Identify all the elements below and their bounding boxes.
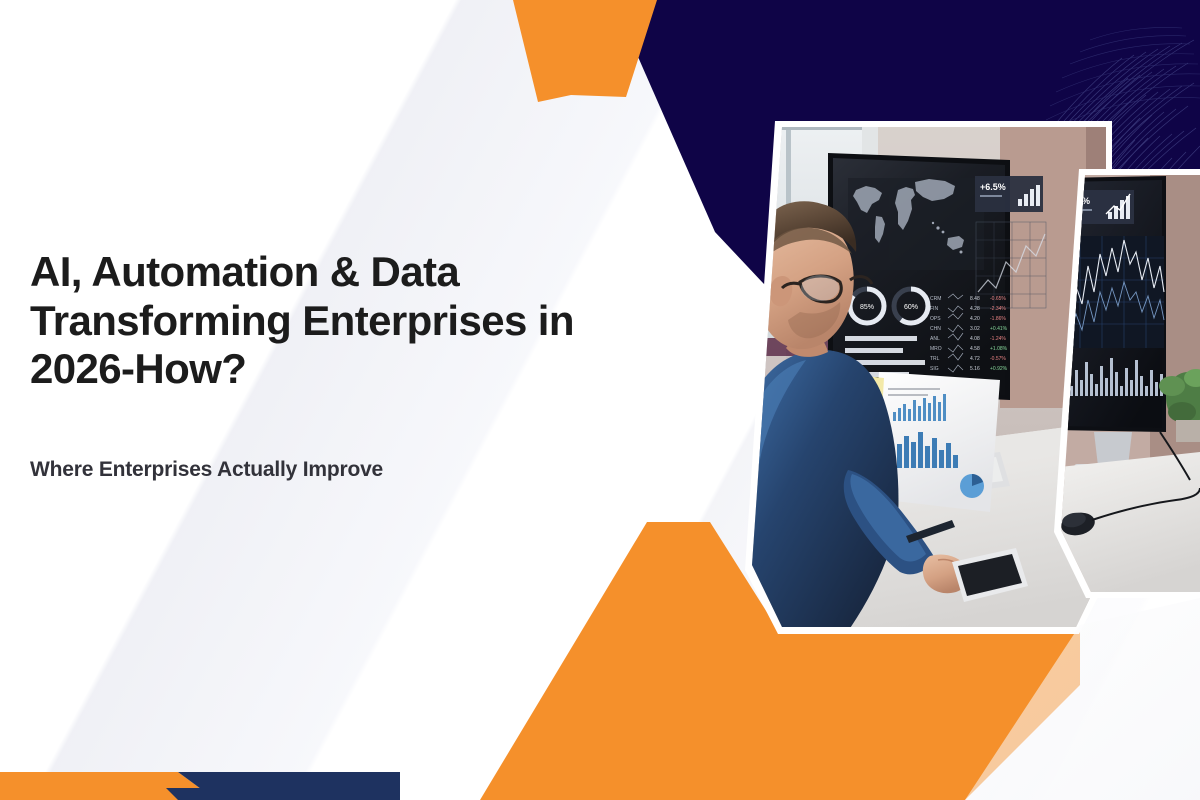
svg-text:OPS: OPS — [930, 316, 941, 322]
svg-text:4.20: 4.20 — [970, 316, 980, 322]
svg-text:4.28: 4.28 — [970, 306, 980, 312]
svg-text:CRM: CRM — [930, 296, 941, 302]
svg-text:+0.92%: +0.92% — [990, 366, 1008, 372]
kpi-value-primary: +6.5% — [980, 182, 1006, 192]
svg-text:-0.57%: -0.57% — [990, 356, 1006, 362]
svg-text:CHN: CHN — [930, 326, 941, 332]
svg-text:FIN: FIN — [930, 306, 938, 312]
svg-text:5.16: 5.16 — [970, 366, 980, 372]
svg-text:+0.41%: +0.41% — [990, 326, 1008, 332]
svg-text:3.02: 3.02 — [970, 326, 980, 332]
svg-text:4.58: 4.58 — [970, 346, 980, 352]
banner-copy: AI, Automation & Data Transforming Enter… — [30, 248, 670, 482]
svg-text:+1.08%: +1.08% — [990, 346, 1008, 352]
svg-text:-2.34%: -2.34% — [990, 306, 1006, 312]
svg-text:SIG: SIG — [930, 366, 939, 372]
svg-text:-1.24%: -1.24% — [990, 336, 1006, 342]
donut-left-value: 85% — [860, 304, 874, 311]
page-title: AI, Automation & Data Transforming Enter… — [30, 248, 670, 394]
kpi-chip-primary: +6.5% — [975, 176, 1043, 212]
svg-text:4.08: 4.08 — [970, 336, 980, 342]
svg-text:8.48: 8.48 — [970, 296, 980, 302]
svg-text:-1.86%: -1.86% — [990, 316, 1006, 322]
page-subtitle: Where Enterprises Actually Improve — [30, 458, 670, 482]
bottom-bars — [0, 772, 400, 800]
svg-text:-0.65%: -0.65% — [990, 296, 1006, 302]
donut-right-value: 60% — [904, 304, 918, 311]
navy-bar-extension — [166, 788, 400, 800]
svg-text:MRO: MRO — [930, 346, 942, 352]
svg-text:TRL: TRL — [930, 356, 940, 362]
svg-text:4.72: 4.72 — [970, 356, 980, 362]
svg-text:ANL: ANL — [930, 336, 940, 342]
banner-stage: +6.5% — [0, 0, 1200, 800]
photo-panel-primary: +6.5% — [740, 118, 1120, 640]
